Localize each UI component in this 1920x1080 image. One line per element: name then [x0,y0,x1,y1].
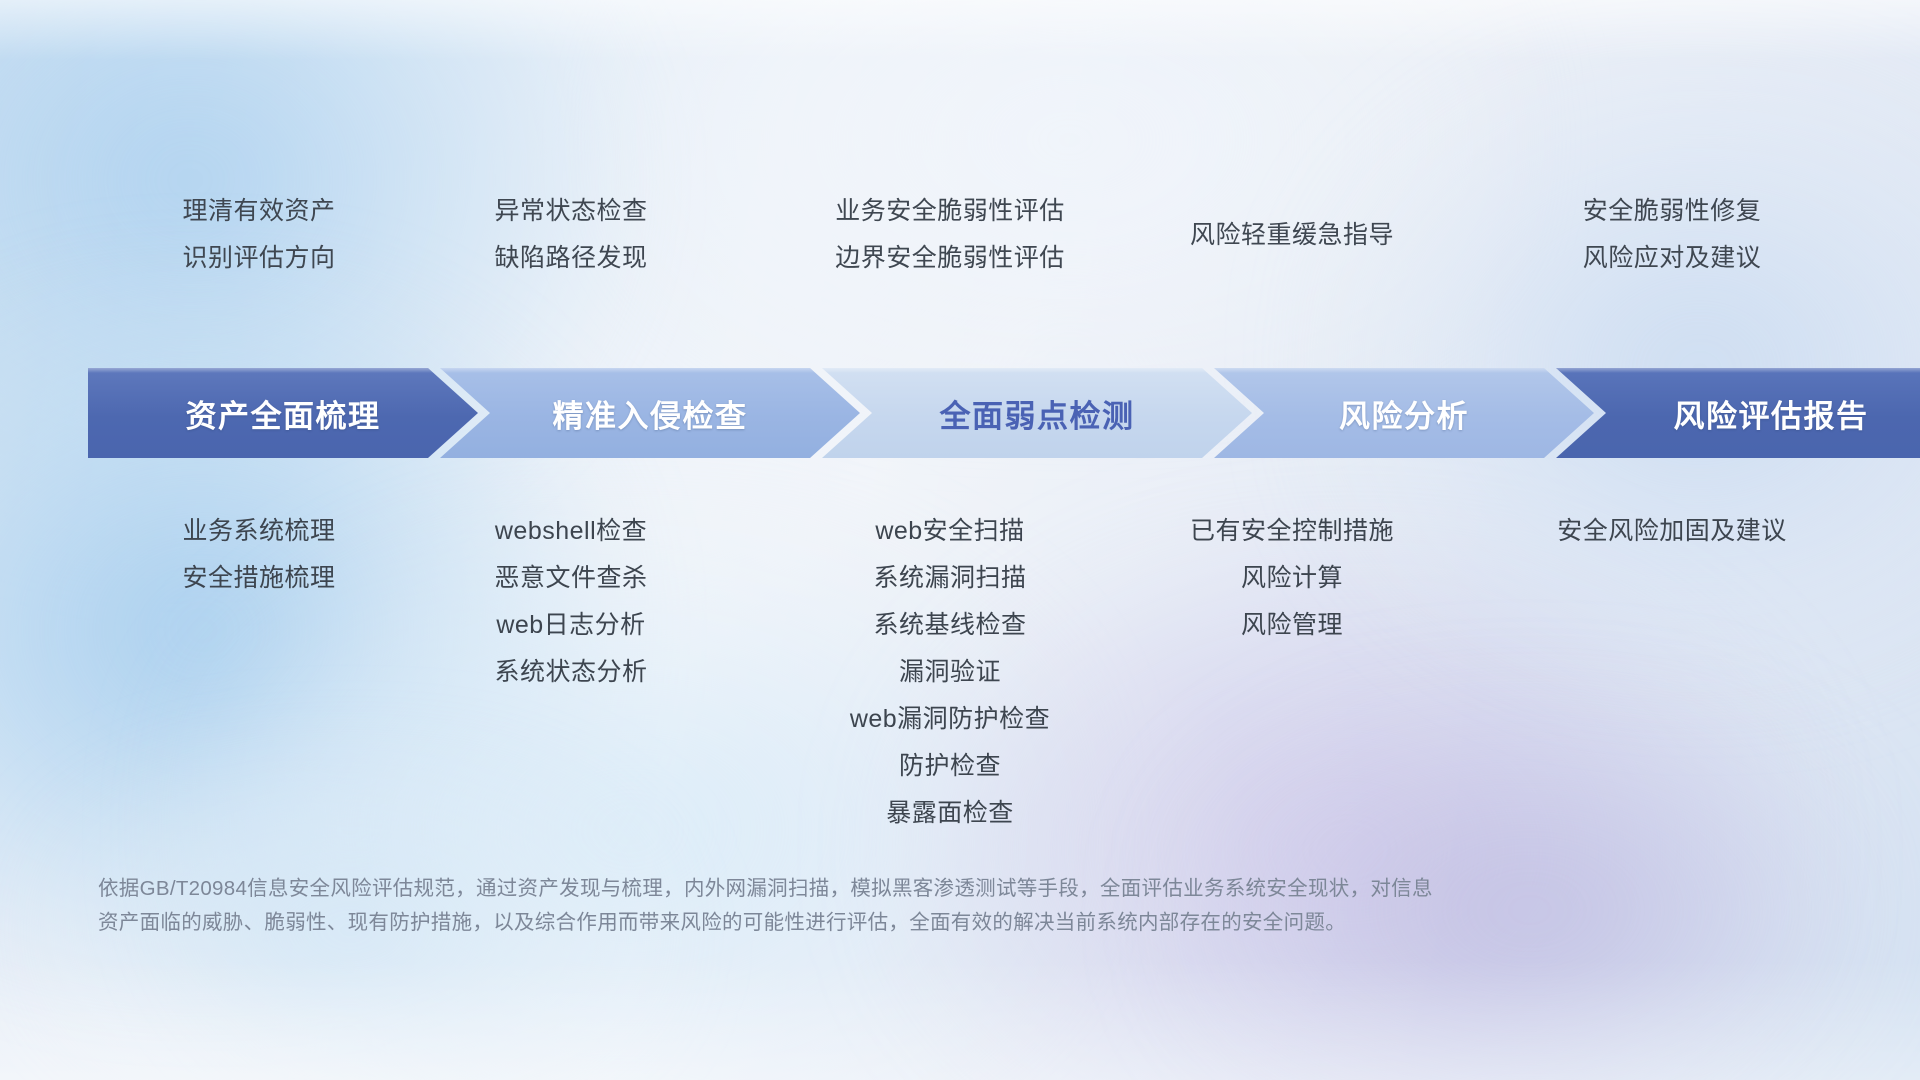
stage-2-activity-3: web日志分析 [400,602,742,649]
process-diagram: 理清有效资产 识别评估方向 异常状态检查 缺陷路径发现 业务安全脆弱性评估 边界… [0,0,1920,1080]
stage-4-activity-2: 风险计算 [1118,555,1466,602]
stage-3-activity-3: 系统基线检查 [762,602,1138,649]
stage-2-activity-4: 系统状态分析 [400,649,742,696]
stage-4-output-1: 风险轻重缓急指导 [1118,212,1466,259]
stage-2-activity-1: webshell检查 [400,508,742,555]
stage-1-output-2: 识别评估方向 [88,235,430,282]
stage-1-activity-1: 业务系统梳理 [88,508,430,555]
stage-1-output-1: 理清有效资产 [88,188,430,235]
stage-1-label: 资产全面梳理 [186,391,381,436]
footer-line-1: 依据GB/T20984信息安全风险评估规范，通过资产发现与梳理，内外网漏洞扫描，… [98,872,1718,906]
stage-3-activity-5: web漏洞防护检查 [762,696,1138,743]
stage-1-outputs: 理清有效资产 识别评估方向 [88,188,430,282]
stage-4-outputs: 风险轻重缓急指导 [1118,212,1466,259]
stage-3-output-1: 业务安全脆弱性评估 [762,188,1138,235]
stage-2-output-1: 异常状态检查 [400,188,742,235]
stage-3-activity-4: 漏洞验证 [762,649,1138,696]
stage-4-chevron[interactable]: 风险分析 [1214,368,1594,458]
stage-3-activity-7: 暴露面检查 [762,790,1138,837]
stage-5-activities: 安全风险加固及建议 [1486,508,1858,555]
stage-2-outputs: 异常状态检查 缺陷路径发现 [400,188,742,282]
stage-4-activity-1: 已有安全控制措施 [1118,508,1466,555]
stage-3-chevron[interactable]: 全面弱点检测 [822,368,1252,458]
stage-2-chevron[interactable]: 精准入侵检查 [440,368,860,458]
stage-2-label: 精准入侵检查 [553,391,748,436]
stage-5-chevron[interactable]: 风险评估报告 [1556,368,1920,458]
stage-1-activity-2: 安全措施梳理 [88,555,430,602]
stage-3-label: 全面弱点检测 [940,391,1135,436]
stage-3-activity-6: 防护检查 [762,743,1138,790]
stage-2-activity-2: 恶意文件查杀 [400,555,742,602]
footer-line-2: 资产面临的威胁、脆弱性、现有防护措施，以及综合作用而带来风险的可能性进行评估，全… [98,906,1718,940]
stage-5-outputs: 安全脆弱性修复 风险应对及建议 [1486,188,1858,282]
stage-3-activity-2: 系统漏洞扫描 [762,555,1138,602]
process-chevron-band: 资产全面梳理 精准入侵检查 全面弱点检测 风险分析 风险评估报告 [88,368,1838,458]
stage-5-output-1: 安全脆弱性修复 [1486,188,1858,235]
stage-5-label: 风险评估报告 [1674,391,1869,436]
stage-3-activities: web安全扫描 系统漏洞扫描 系统基线检查 漏洞验证 web漏洞防护检查 防护检… [762,508,1138,837]
footer-description: 依据GB/T20984信息安全风险评估规范，通过资产发现与梳理，内外网漏洞扫描，… [98,872,1718,940]
stage-5-activity-1: 安全风险加固及建议 [1486,508,1858,555]
stage-4-activities: 已有安全控制措施 风险计算 风险管理 [1118,508,1466,649]
stage-2-output-2: 缺陷路径发现 [400,235,742,282]
stage-3-activity-1: web安全扫描 [762,508,1138,555]
stage-4-activity-3: 风险管理 [1118,602,1466,649]
stage-1-chevron[interactable]: 资产全面梳理 [88,368,478,458]
stage-3-output-2: 边界安全脆弱性评估 [762,235,1138,282]
stage-3-outputs: 业务安全脆弱性评估 边界安全脆弱性评估 [762,188,1138,282]
stage-1-activities: 业务系统梳理 安全措施梳理 [88,508,430,602]
stage-4-label: 风险分析 [1339,391,1469,436]
stage-5-output-2: 风险应对及建议 [1486,235,1858,282]
stage-2-activities: webshell检查 恶意文件查杀 web日志分析 系统状态分析 [400,508,742,696]
